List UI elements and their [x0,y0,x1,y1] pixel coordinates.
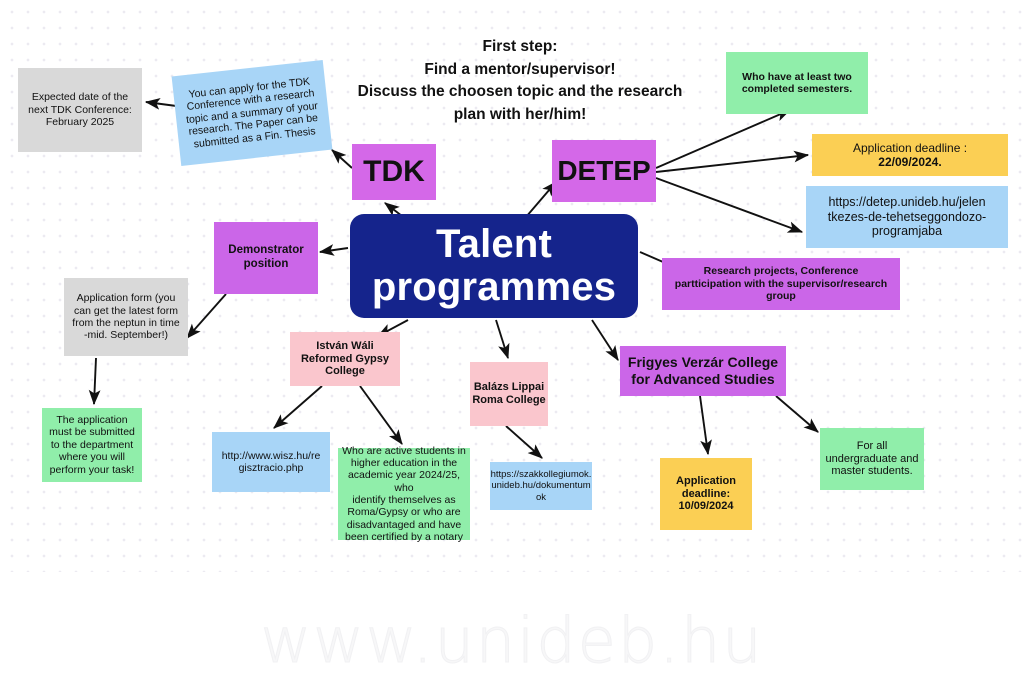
node-detep-link[interactable]: https://detep.unideb.hu/jelen tkezes-de-… [806,186,1008,248]
node-detep[interactable]: DETEP [552,140,656,202]
node-tdk[interactable]: TDK [352,144,436,200]
node-lippai-college[interactable]: Balázs Lippai Roma College [470,362,548,426]
node-detep-deadline[interactable]: Application deadline :22/09/2024. [812,134,1008,176]
node-demo-form[interactable]: Application form (you can get the latest… [64,278,188,356]
node-wali-link[interactable]: http://www.wisz.hu/re gisztracio.php [212,432,330,492]
node-lippai-link[interactable]: https://szakkollegiumok. unideb.hu/dokum… [490,462,592,510]
node-verzar-students[interactable]: For all undergraduate and master student… [820,428,924,490]
node-verzar-college[interactable]: Frigyes Verzár College for Advanced Stud… [620,346,786,396]
node-wali-students[interactable]: Who are active students in higher educat… [338,448,470,540]
node-tdk-apply[interactable]: You can apply for the TDK Conference wit… [172,60,333,166]
node-detep-semesters[interactable]: Who have at least two completed semester… [726,52,868,114]
headline-text: First step: Find a mentor/supervisor! Di… [350,36,690,127]
site-watermark: www.unideb.hu [0,604,1024,677]
mindmap-canvas: First step: Find a mentor/supervisor! Di… [0,0,1024,682]
node-central[interactable]: Talent programmes [350,214,638,318]
node-tdk-expected[interactable]: Expected date of the next TDK Conference… [18,68,142,152]
node-wali-college[interactable]: István Wáli Reformed Gypsy College [290,332,400,386]
node-label: Application deadline :22/09/2024. [853,141,967,169]
node-demo-submit[interactable]: The application must be submitted to the… [42,408,142,482]
node-verzar-deadline[interactable]: Application deadline: 10/09/2024 [660,458,752,530]
node-demonstrator[interactable]: Demonstrator position [214,222,318,294]
node-research-projects[interactable]: Research projects, Conference partticipa… [662,258,900,310]
